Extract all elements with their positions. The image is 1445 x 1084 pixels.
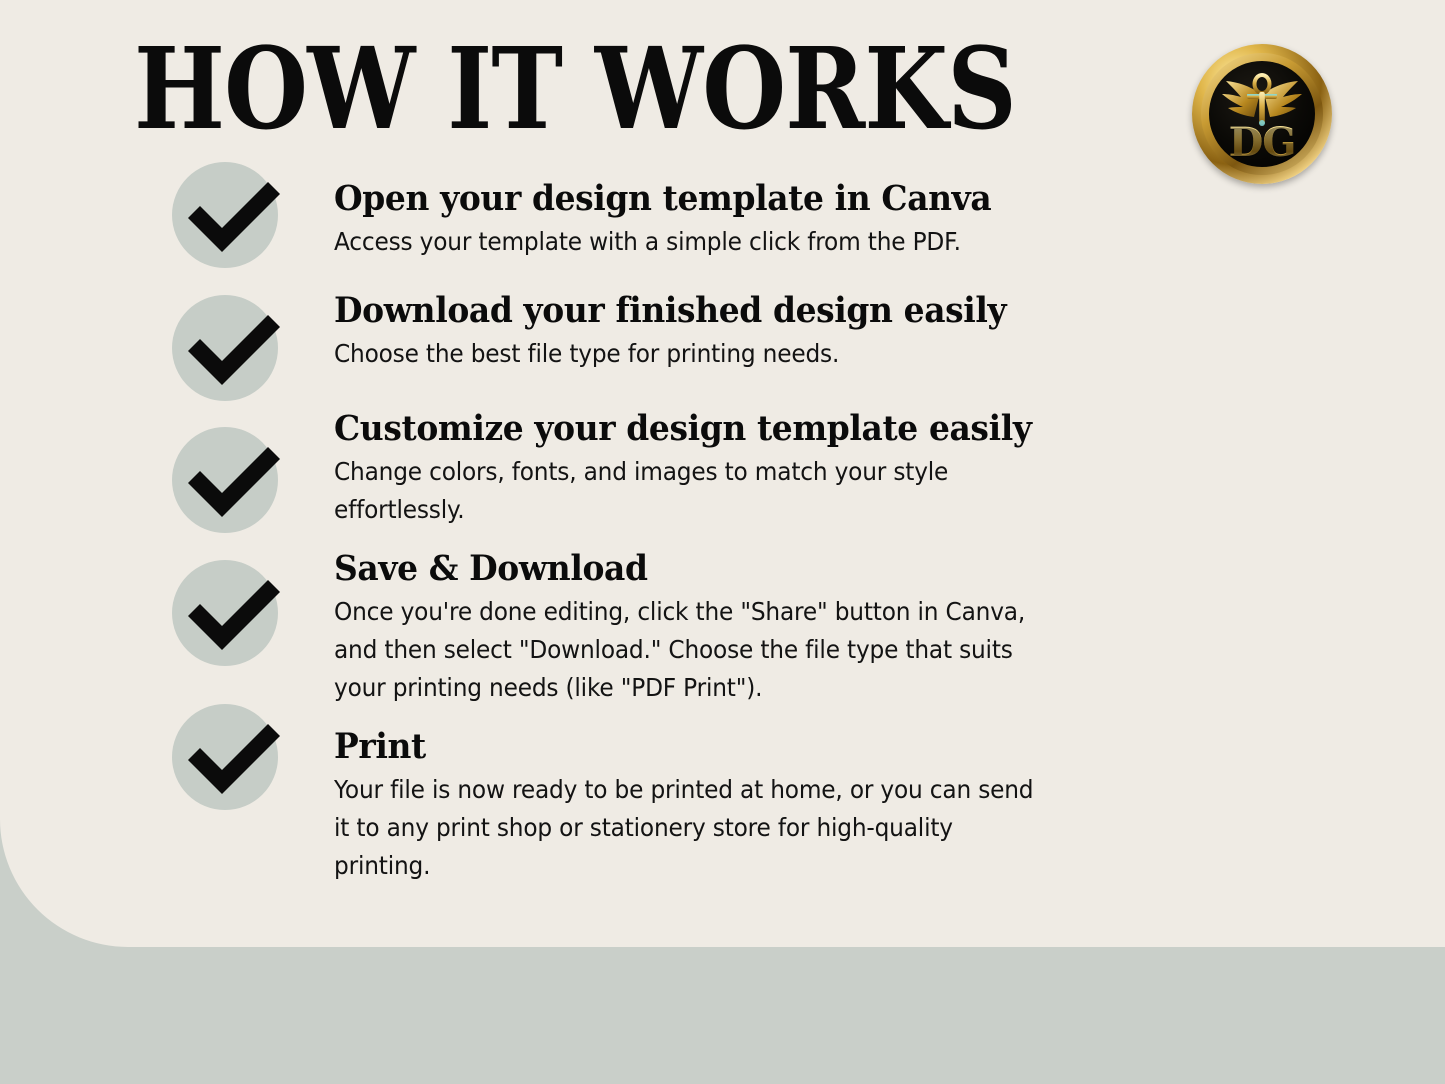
step-body: Change colors, fonts, and images to matc…	[334, 453, 1050, 529]
step-text-3: Customize your design template easily Ch…	[334, 408, 1104, 529]
step-check-3	[172, 427, 278, 533]
step-heading: Customize your design template easily	[334, 408, 1058, 449]
check-icon	[172, 162, 292, 272]
check-icon	[172, 295, 292, 405]
step-body: Once you're done editing, click the "Sha…	[334, 593, 1055, 707]
check-icon	[172, 427, 292, 537]
step-heading: Print	[334, 726, 1063, 767]
step-heading: Download your finished design easily	[334, 290, 1058, 331]
step-body: Access your template with a simple click…	[334, 223, 1050, 261]
step-text-2: Download your finished design easily Cho…	[334, 290, 1104, 373]
step-check-2	[172, 295, 278, 401]
check-icon	[172, 704, 292, 814]
step-heading: Save & Download	[334, 548, 1063, 589]
step-text-1: Open your design template in Canva Acces…	[334, 178, 1104, 261]
step-text-5: Print Your file is now ready to be print…	[334, 726, 1109, 885]
check-icon	[172, 560, 292, 670]
steps-list: Open your design template in Canva Acces…	[0, 0, 1445, 947]
step-check-4	[172, 560, 278, 666]
step-check-1	[172, 162, 278, 268]
step-heading: Open your design template in Canva	[334, 178, 1058, 219]
step-body: Your file is now ready to be printed at …	[334, 771, 1055, 885]
step-text-4: Save & Download Once you're done editing…	[334, 548, 1109, 707]
step-check-5	[172, 704, 278, 810]
step-body: Choose the best file type for printing n…	[334, 335, 1050, 373]
poster-canvas: HOW IT WORKS	[0, 0, 1445, 1084]
